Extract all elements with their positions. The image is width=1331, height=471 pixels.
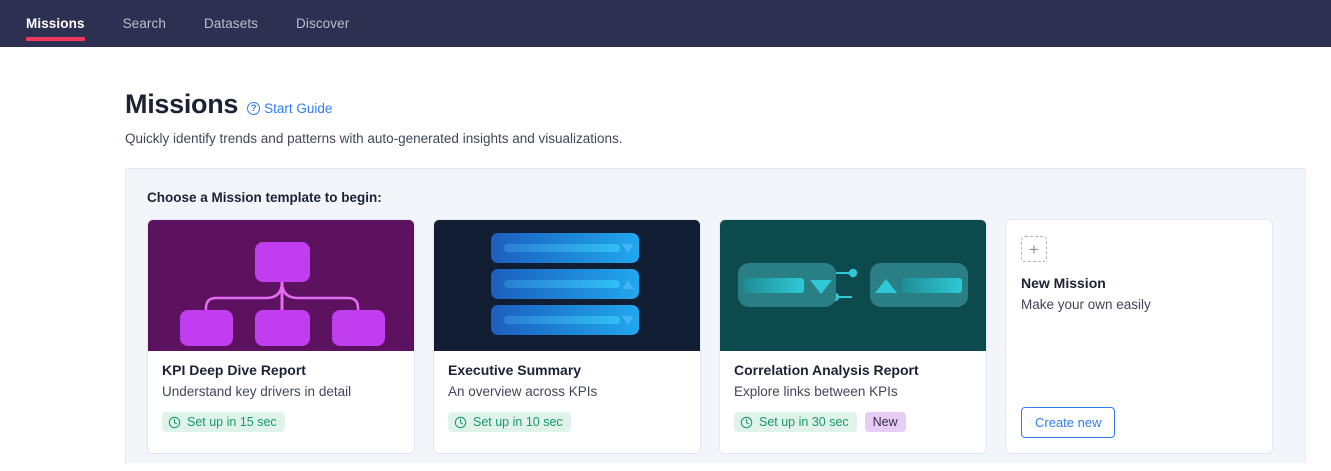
template-panel: Choose a Mission template to begin: [125,168,1306,463]
new-badge: New [865,412,906,432]
template-card-correlation-analysis[interactable]: Correlation Analysis Report Explore link… [719,219,987,454]
card-title: Executive Summary [448,362,686,378]
start-guide-label: Start Guide [264,101,332,116]
question-circle-icon: ? [247,102,260,115]
setup-time-badge: Set up in 30 sec [734,412,857,432]
clock-icon [740,416,753,429]
nav-item-missions[interactable]: Missions [26,0,85,47]
setup-time-label: Set up in 10 sec [473,415,563,429]
card-description: Explore links between KPIs [734,384,972,399]
setup-time-label: Set up in 30 sec [759,415,849,429]
nav-item-search[interactable]: Search [123,0,166,47]
card-body: Correlation Analysis Report Explore link… [720,351,986,432]
card-body: KPI Deep Dive Report Understand key driv… [148,351,414,432]
page-header: Missions ? Start Guide Quickly identify … [0,47,1331,146]
template-card-executive-summary[interactable]: Executive Summary An overview across KPI… [433,219,701,454]
start-guide-link[interactable]: ? Start Guide [247,101,332,116]
card-title: KPI Deep Dive Report [162,362,400,378]
panel-label: Choose a Mission template to begin: [147,190,1305,205]
setup-time-label: Set up in 15 sec [187,415,277,429]
card-description: An overview across KPIs [448,384,686,399]
template-card-list: KPI Deep Dive Report Understand key driv… [147,219,1305,454]
hierarchy-tree-illustration [148,220,414,351]
nav-item-datasets[interactable]: Datasets [204,0,258,47]
nav-item-label: Missions [26,16,85,31]
stacked-bars-illustration [434,220,700,351]
new-mission-title: New Mission [1021,275,1257,291]
card-badges: Set up in 10 sec [448,412,686,432]
clock-icon [454,416,467,429]
card-title: Correlation Analysis Report [734,362,972,378]
nav-item-label: Search [123,16,166,31]
card-badges: Set up in 15 sec [162,412,400,432]
setup-time-badge: Set up in 10 sec [448,412,571,432]
title-row: Missions ? Start Guide [125,89,1331,120]
new-mission-card[interactable]: + New Mission Make your own easily Creat… [1005,219,1273,454]
plus-icon[interactable]: + [1021,236,1047,262]
new-mission-description: Make your own easily [1021,297,1257,312]
nav-item-discover[interactable]: Discover [296,0,349,47]
card-body: Executive Summary An overview across KPI… [434,351,700,432]
nav-item-label: Datasets [204,16,258,31]
linked-nodes-icon [720,220,986,351]
create-new-button[interactable]: Create new [1021,407,1115,438]
page-content: Missions ? Start Guide Quickly identify … [0,47,1331,463]
card-badges: Set up in 30 sec New [734,412,972,432]
linked-nodes-illustration [720,220,986,351]
page-title: Missions [125,89,238,120]
card-description: Understand key drivers in detail [162,384,400,399]
template-card-kpi-deep-dive[interactable]: KPI Deep Dive Report Understand key driv… [147,219,415,454]
stacked-bars-icon [434,220,700,351]
hierarchy-tree-icon [148,220,414,351]
page-subtitle: Quickly identify trends and patterns wit… [125,131,1331,146]
nav-item-label: Discover [296,16,349,31]
top-navigation-bar: Missions Search Datasets Discover [0,0,1331,47]
clock-icon [168,416,181,429]
setup-time-badge: Set up in 15 sec [162,412,285,432]
